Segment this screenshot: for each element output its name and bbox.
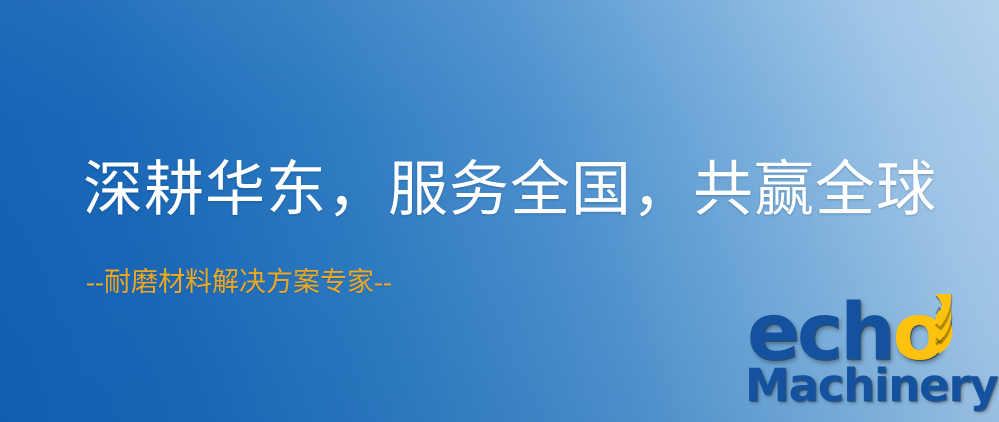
banner-subtitle: --耐磨材料解决方案专家--	[86, 266, 392, 298]
banner-headline: 深耕华东，服务全国，共赢全球	[83, 155, 937, 225]
echo-machinery-logo: echo Machinery®	[745, 296, 999, 422]
promotional-banner: 深耕华东，服务全国，共赢全球 --耐磨材料解决方案专家-- echo Machi…	[0, 0, 999, 422]
logo-machinery-text: Machinery	[745, 359, 998, 412]
logo-wordmark-machinery: Machinery®	[745, 359, 999, 412]
